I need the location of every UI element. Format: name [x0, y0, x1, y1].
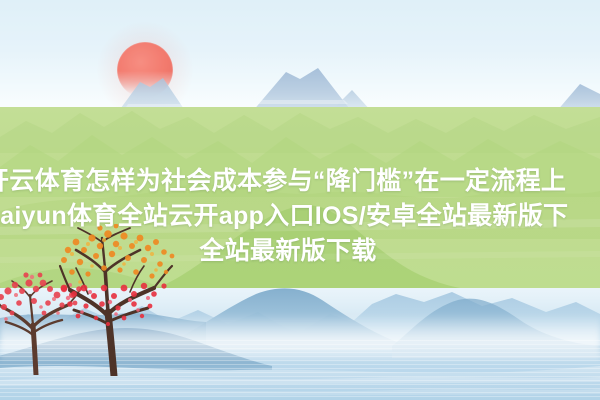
- overlay-text-line-2: kaiyun体育全站云开app入口IOS/安卓全站最新版下: [0, 199, 600, 234]
- overlay-text-line-1: 开云体育怎样为社会成本参与“降门槛”在一定流程上: [0, 164, 600, 199]
- overlay-text-line-3: 全站最新版下载: [0, 234, 600, 269]
- distant-mountain-peaks: [0, 60, 600, 112]
- banner-image: 开云体育怎样为社会成本参与“降门槛”在一定流程上 kaiyun体育全站云开app…: [0, 0, 600, 400]
- overlay-text-block: 开云体育怎样为社会成本参与“降门槛”在一定流程上 kaiyun体育全站云开app…: [0, 164, 600, 269]
